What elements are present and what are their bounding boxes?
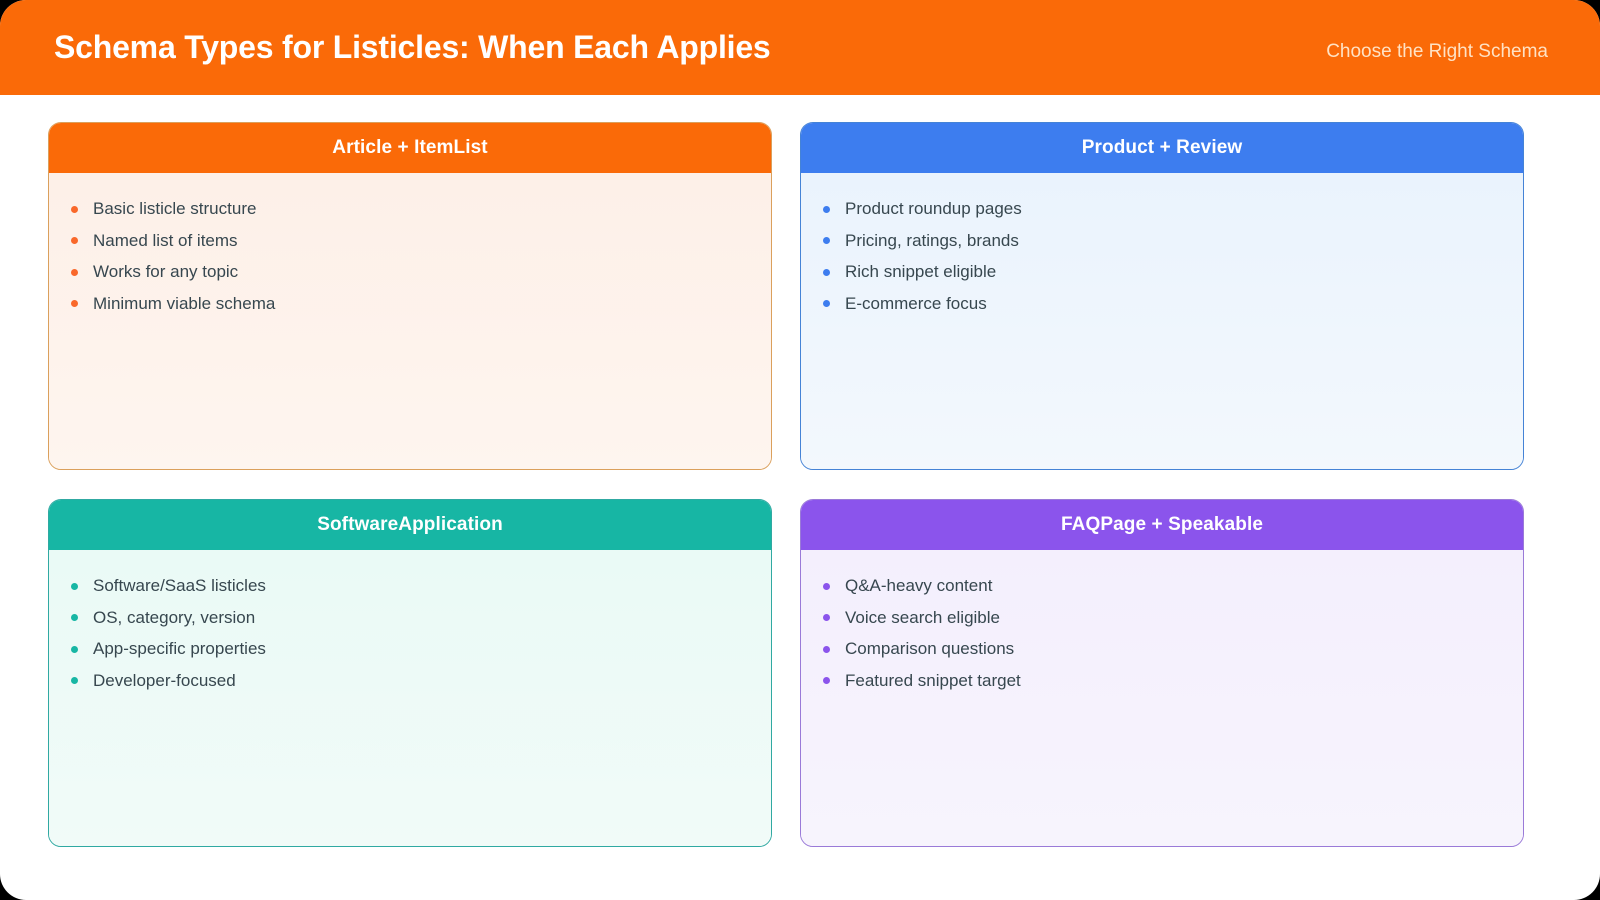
- card-title: FAQPage + Speakable: [1061, 514, 1263, 536]
- list-item: Basic listicle structure: [71, 193, 749, 225]
- bullet-dot-icon: [71, 677, 78, 684]
- slide-page: Schema Types for Listicles: When Each Ap…: [0, 0, 1600, 900]
- list-item: OS, category, version: [71, 602, 749, 634]
- page-title: Schema Types for Listicles: When Each Ap…: [54, 29, 771, 66]
- card-header: Article + ItemList: [49, 123, 771, 173]
- card-body: Software/SaaS listicles OS, category, ve…: [49, 550, 771, 846]
- schema-card-grid: Article + ItemList Basic listicle struct…: [0, 95, 1600, 877]
- card-header: Product + Review: [801, 123, 1523, 173]
- bullet-dot-icon: [823, 646, 830, 653]
- list-item-label: Featured snippet target: [845, 665, 1021, 697]
- list-item-label: Basic listicle structure: [93, 193, 256, 225]
- bullet-dot-icon: [71, 237, 78, 244]
- bullet-list: Q&A-heavy content Voice search eligible …: [823, 570, 1501, 696]
- list-item-label: Named list of items: [93, 225, 238, 257]
- bullet-dot-icon: [71, 206, 78, 213]
- bullet-dot-icon: [823, 300, 830, 307]
- bullet-dot-icon: [823, 237, 830, 244]
- list-item: Comparison questions: [823, 633, 1501, 665]
- list-item: Minimum viable schema: [71, 288, 749, 320]
- list-item-label: E-commerce focus: [845, 288, 987, 320]
- card-body: Product roundup pages Pricing, ratings, …: [801, 173, 1523, 469]
- list-item-label: Developer-focused: [93, 665, 236, 697]
- list-item: Product roundup pages: [823, 193, 1501, 225]
- list-item-label: Q&A-heavy content: [845, 570, 992, 602]
- page-header: Schema Types for Listicles: When Each Ap…: [0, 0, 1600, 95]
- list-item-label: OS, category, version: [93, 602, 255, 634]
- card-title: Product + Review: [1082, 137, 1243, 159]
- list-item-label: Product roundup pages: [845, 193, 1022, 225]
- list-item-label: Minimum viable schema: [93, 288, 275, 320]
- list-item: Rich snippet eligible: [823, 256, 1501, 288]
- bullet-dot-icon: [71, 583, 78, 590]
- list-item: Works for any topic: [71, 256, 749, 288]
- bullet-dot-icon: [823, 206, 830, 213]
- bullet-dot-icon: [71, 614, 78, 621]
- card-body: Q&A-heavy content Voice search eligible …: [801, 550, 1523, 846]
- list-item-label: App-specific properties: [93, 633, 266, 665]
- list-item-label: Comparison questions: [845, 633, 1014, 665]
- bullet-dot-icon: [823, 583, 830, 590]
- schema-card-softwareapplication[interactable]: SoftwareApplication Software/SaaS listic…: [48, 499, 772, 847]
- bullet-dot-icon: [823, 269, 830, 276]
- schema-card-faqpage-speakable[interactable]: FAQPage + Speakable Q&A-heavy content Vo…: [800, 499, 1524, 847]
- list-item-label: Voice search eligible: [845, 602, 1000, 634]
- bullet-list: Software/SaaS listicles OS, category, ve…: [71, 570, 749, 696]
- list-item: Voice search eligible: [823, 602, 1501, 634]
- list-item: Software/SaaS listicles: [71, 570, 749, 602]
- schema-card-product-review[interactable]: Product + Review Product roundup pages P…: [800, 122, 1524, 470]
- card-header: SoftwareApplication: [49, 500, 771, 550]
- list-item: E-commerce focus: [823, 288, 1501, 320]
- list-item: Q&A-heavy content: [823, 570, 1501, 602]
- list-item: Developer-focused: [71, 665, 749, 697]
- list-item-label: Pricing, ratings, brands: [845, 225, 1019, 257]
- list-item: Pricing, ratings, brands: [823, 225, 1501, 257]
- bullet-dot-icon: [71, 269, 78, 276]
- bullet-list: Basic listicle structure Named list of i…: [71, 193, 749, 319]
- card-title: Article + ItemList: [332, 137, 487, 159]
- list-item: Named list of items: [71, 225, 749, 257]
- schema-card-article-itemlist[interactable]: Article + ItemList Basic listicle struct…: [48, 122, 772, 470]
- bullet-dot-icon: [71, 300, 78, 307]
- page-subtitle: Choose the Right Schema: [1326, 33, 1548, 63]
- card-body: Basic listicle structure Named list of i…: [49, 173, 771, 469]
- list-item-label: Rich snippet eligible: [845, 256, 996, 288]
- bullet-dot-icon: [71, 646, 78, 653]
- bullet-list: Product roundup pages Pricing, ratings, …: [823, 193, 1501, 319]
- bullet-dot-icon: [823, 677, 830, 684]
- bullet-dot-icon: [823, 614, 830, 621]
- list-item: Featured snippet target: [823, 665, 1501, 697]
- list-item-label: Software/SaaS listicles: [93, 570, 266, 602]
- list-item: App-specific properties: [71, 633, 749, 665]
- card-title: SoftwareApplication: [317, 514, 503, 536]
- list-item-label: Works for any topic: [93, 256, 238, 288]
- card-header: FAQPage + Speakable: [801, 500, 1523, 550]
